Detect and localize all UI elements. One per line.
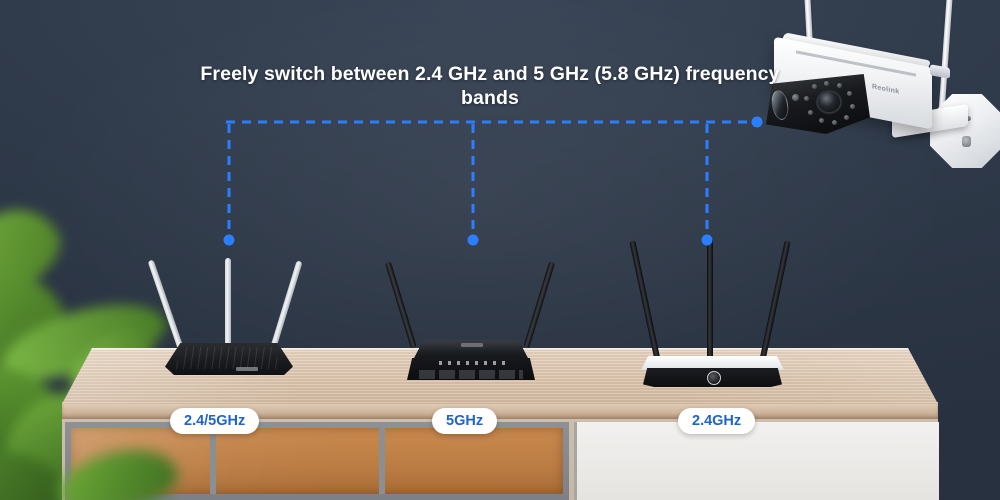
router-logo [236, 367, 258, 371]
camera-ir-led [850, 104, 855, 109]
router-antenna [707, 238, 713, 362]
router-vent-slots [419, 370, 523, 379]
camera-ir-led-array [804, 82, 856, 126]
badge-frequency-24ghz: 2.4GHz [678, 408, 755, 434]
device-wifi-router-dual-band [168, 255, 288, 375]
camera-ir-led [837, 83, 842, 88]
router-body-top [641, 356, 784, 370]
cabinet-divider [210, 428, 216, 494]
camera-antenna-connector [930, 64, 950, 79]
router-vent-ridges [172, 347, 284, 369]
device-wifi-router-24ghz [645, 238, 780, 388]
badge-frequency-dual: 2.4/5GHz [170, 408, 259, 434]
camera-ir-led [812, 84, 817, 89]
camera-ir-led [804, 96, 809, 101]
camera-mount-screw [962, 136, 971, 147]
device-wifi-router-5ghz [405, 258, 537, 378]
camera-ir-led [847, 91, 852, 96]
router-status-dial [707, 371, 721, 385]
camera-ir-led [844, 115, 849, 120]
camera-ir-led [819, 118, 824, 123]
camera-ir-led [824, 81, 829, 86]
scene-root: Reolink [0, 0, 1000, 500]
cabinet-door-right [574, 422, 939, 500]
camera-ir-led [832, 120, 837, 125]
cabinet-divider [379, 428, 385, 494]
router-logo [461, 343, 483, 347]
router-led-indicators [439, 361, 505, 365]
badge-frequency-5ghz: 5GHz [432, 408, 497, 434]
router-antenna [225, 258, 231, 356]
headline-text: Freely switch between 2.4 GHz and 5 GHz … [180, 62, 800, 111]
camera-ir-led [808, 110, 813, 115]
